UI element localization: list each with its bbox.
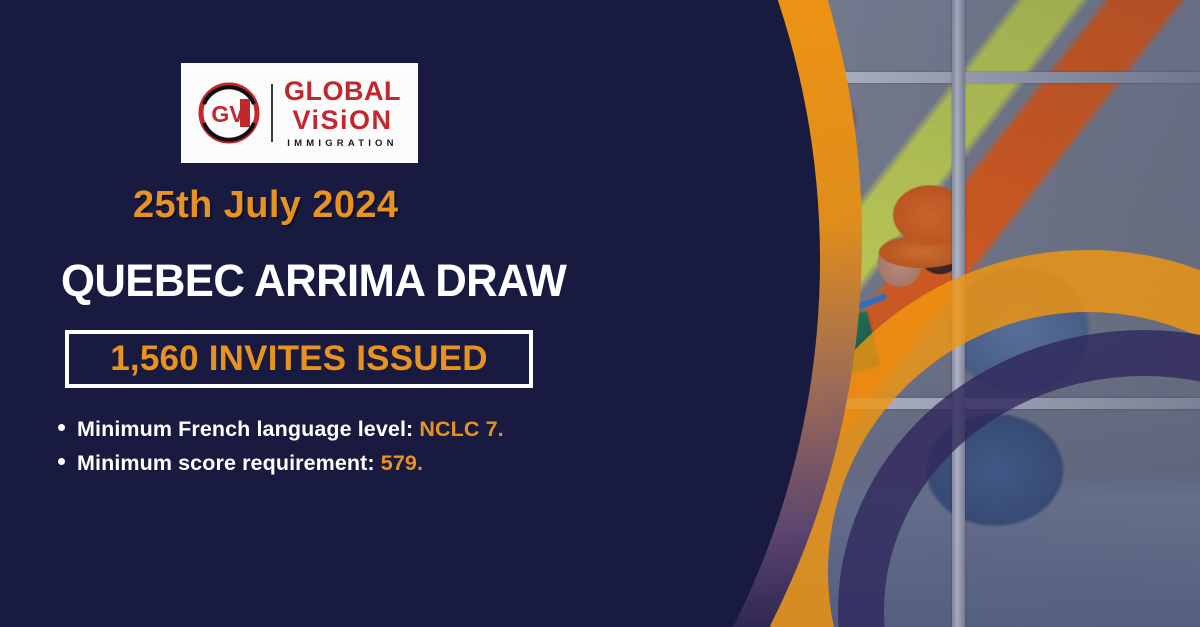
logo-name-line1: GLOBAL xyxy=(284,78,401,105)
gvi-emblem-icon: GV xyxy=(198,82,260,144)
invites-banner-text: 1,560 INVITES ISSUED xyxy=(110,339,487,379)
bullet-label: Minimum French language level: xyxy=(77,417,413,441)
page-title: QUEBEC ARRIMA DRAW xyxy=(61,255,566,307)
svg-text:GV: GV xyxy=(211,101,245,127)
bullet-value: NCLC 7. xyxy=(419,417,503,441)
draw-date: 25th July 2024 xyxy=(133,184,398,227)
content-area: GV GLOBAL ViSiON IMMIGRATION 25th July 2… xyxy=(0,0,620,627)
logo-wordmark: GLOBAL ViSiON IMMIGRATION xyxy=(284,78,401,149)
bullet-dot-icon xyxy=(58,458,65,465)
list-item: Minimum score requirement: 579. xyxy=(58,451,504,476)
invites-banner: 1,560 INVITES ISSUED xyxy=(65,330,533,388)
logo-name-line2: ViSiON xyxy=(292,107,392,134)
requirements-list: Minimum French language level: NCLC 7. M… xyxy=(58,417,504,485)
bullet-dot-icon xyxy=(58,424,65,431)
list-item: Minimum French language level: NCLC 7. xyxy=(58,417,504,442)
bullet-label: Minimum score requirement: xyxy=(77,451,375,475)
logo-divider xyxy=(271,84,273,142)
bullet-value: 579. xyxy=(381,451,423,475)
brand-logo[interactable]: GV GLOBAL ViSiON IMMIGRATION xyxy=(181,63,418,163)
poster-canvas: GV GLOBAL ViSiON IMMIGRATION 25th July 2… xyxy=(0,0,1200,627)
logo-tagline: IMMIGRATION xyxy=(287,139,397,149)
